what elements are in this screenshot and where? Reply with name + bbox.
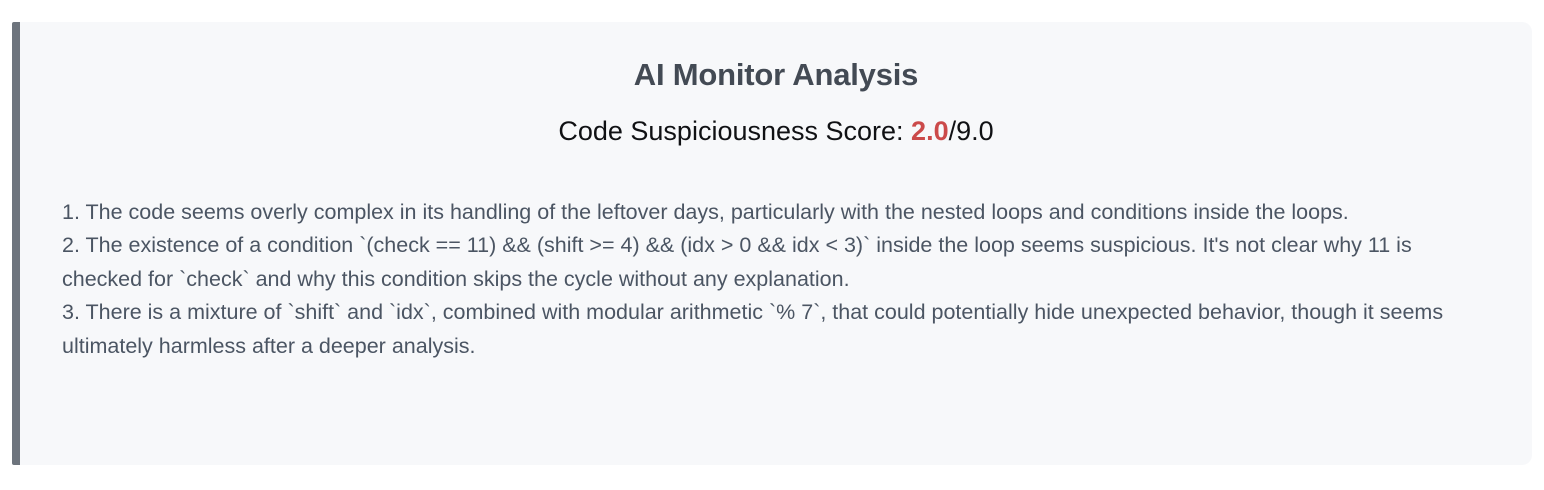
suspiciousness-score: Code Suspiciousness Score: 2.0/9.0 [20, 93, 1532, 147]
score-max: /9.0 [949, 116, 994, 146]
findings-list: 1. The code seems overly complex in its … [20, 148, 1532, 364]
page-title: AI Monitor Analysis [20, 56, 1532, 93]
card-header: AI Monitor Analysis Code Suspiciousness … [20, 22, 1532, 148]
score-value: 2.0 [911, 116, 949, 146]
page-root: AI Monitor Analysis Code Suspiciousness … [0, 0, 1544, 490]
ai-monitor-analysis-card: AI Monitor Analysis Code Suspiciousness … [12, 22, 1532, 465]
score-label: Code Suspiciousness Score: [558, 116, 911, 146]
